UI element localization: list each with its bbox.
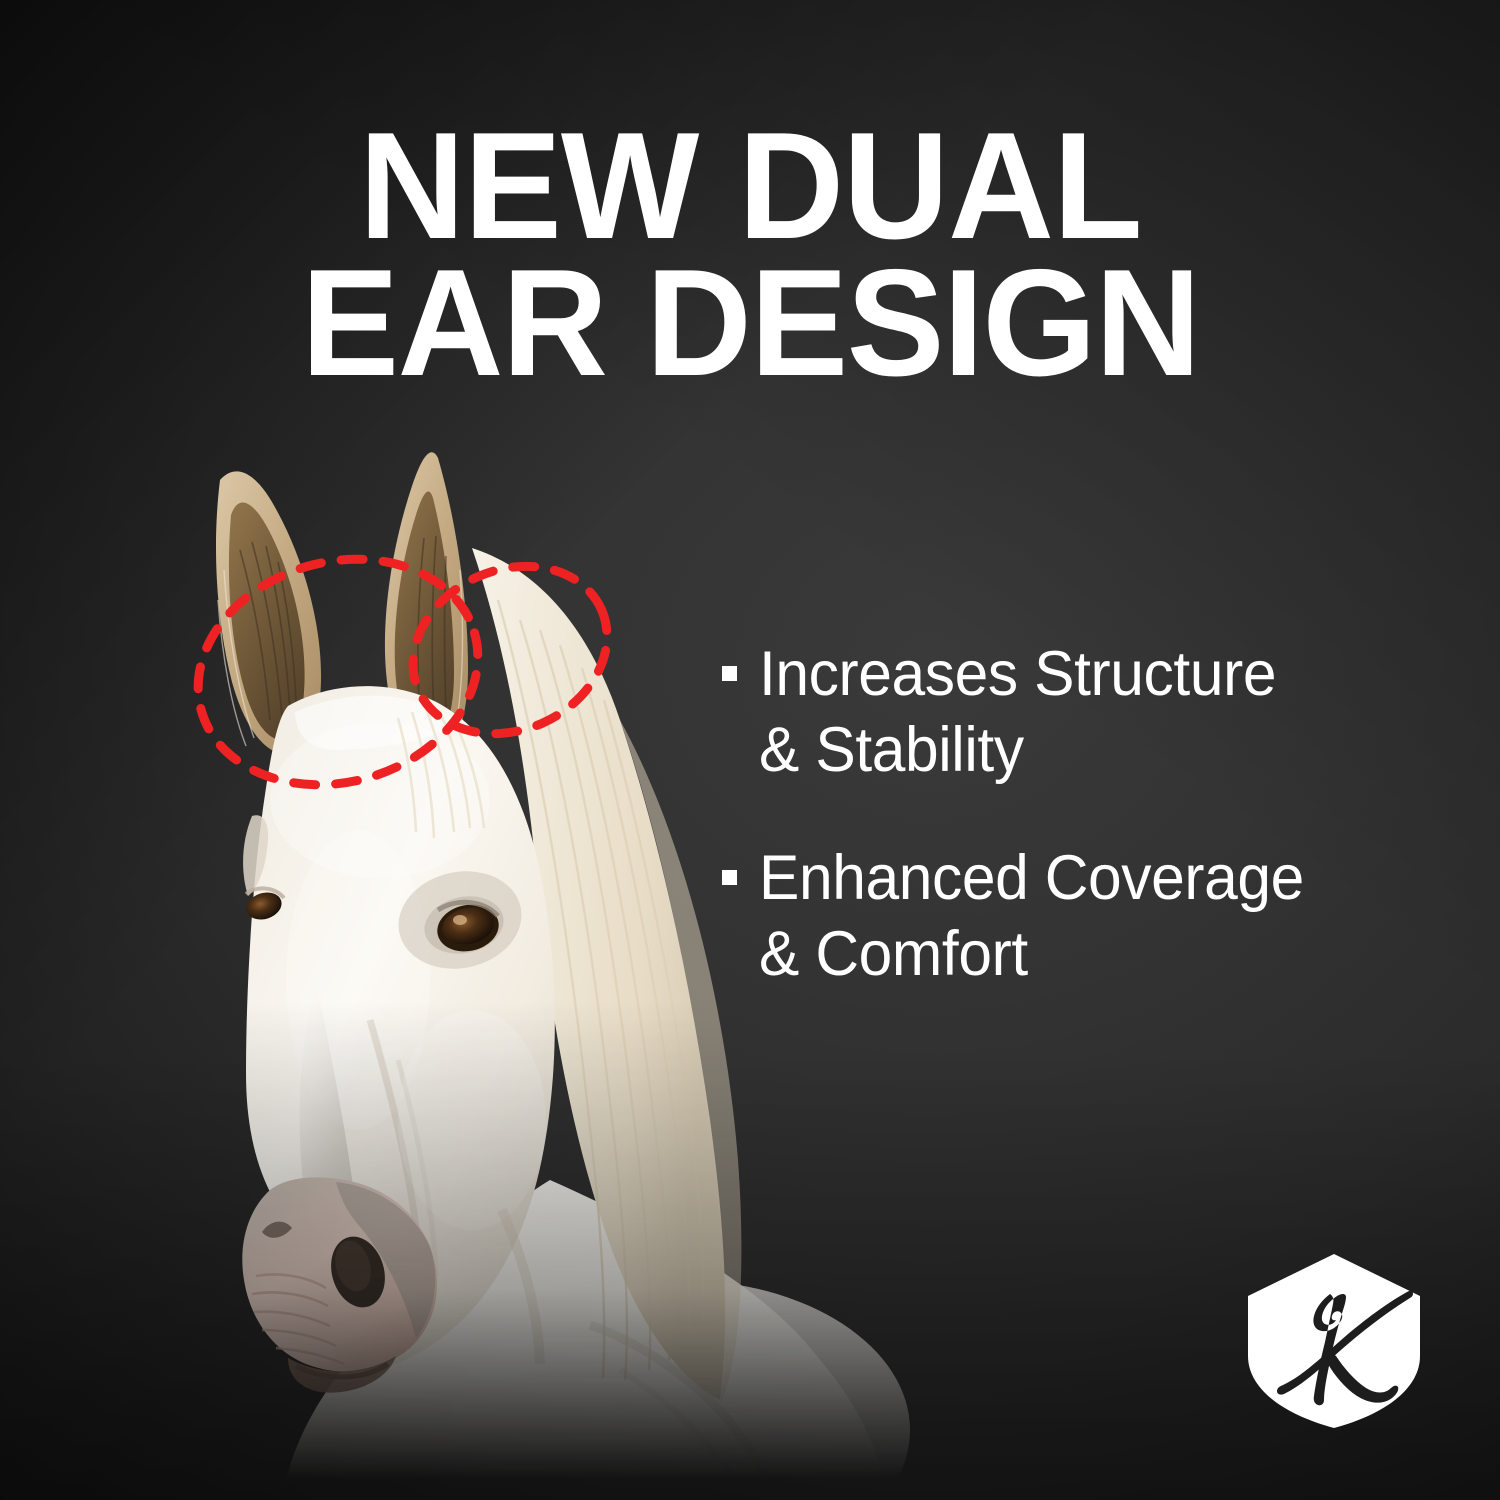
product-feature-banner: NEW DUAL EAR DESIGN Increases Structure … [0, 0, 1500, 1500]
feature-2-line-2: & Comfort [759, 919, 1028, 989]
feature-1-line-2: & Stability [759, 715, 1024, 785]
square-bullet-icon [722, 666, 737, 681]
list-item: Enhanced Coverage & Comfort [722, 840, 1422, 992]
brand-logo [1244, 1252, 1424, 1430]
headline-line-1: NEW DUAL [292, 118, 1209, 255]
feature-1-line-1: Increases Structure [759, 639, 1276, 709]
list-item: Increases Structure & Stability [722, 636, 1422, 788]
square-bullet-icon [722, 870, 737, 885]
feature-text-1: Increases Structure & Stability [759, 636, 1276, 788]
feature-list: Increases Structure & Stability Enhanced… [722, 636, 1422, 1044]
feature-2-line-1: Enhanced Coverage [759, 843, 1304, 913]
page-title: NEW DUAL EAR DESIGN [292, 118, 1209, 392]
feature-text-2: Enhanced Coverage & Comfort [759, 840, 1304, 992]
headline-line-2: EAR DESIGN [292, 255, 1209, 392]
